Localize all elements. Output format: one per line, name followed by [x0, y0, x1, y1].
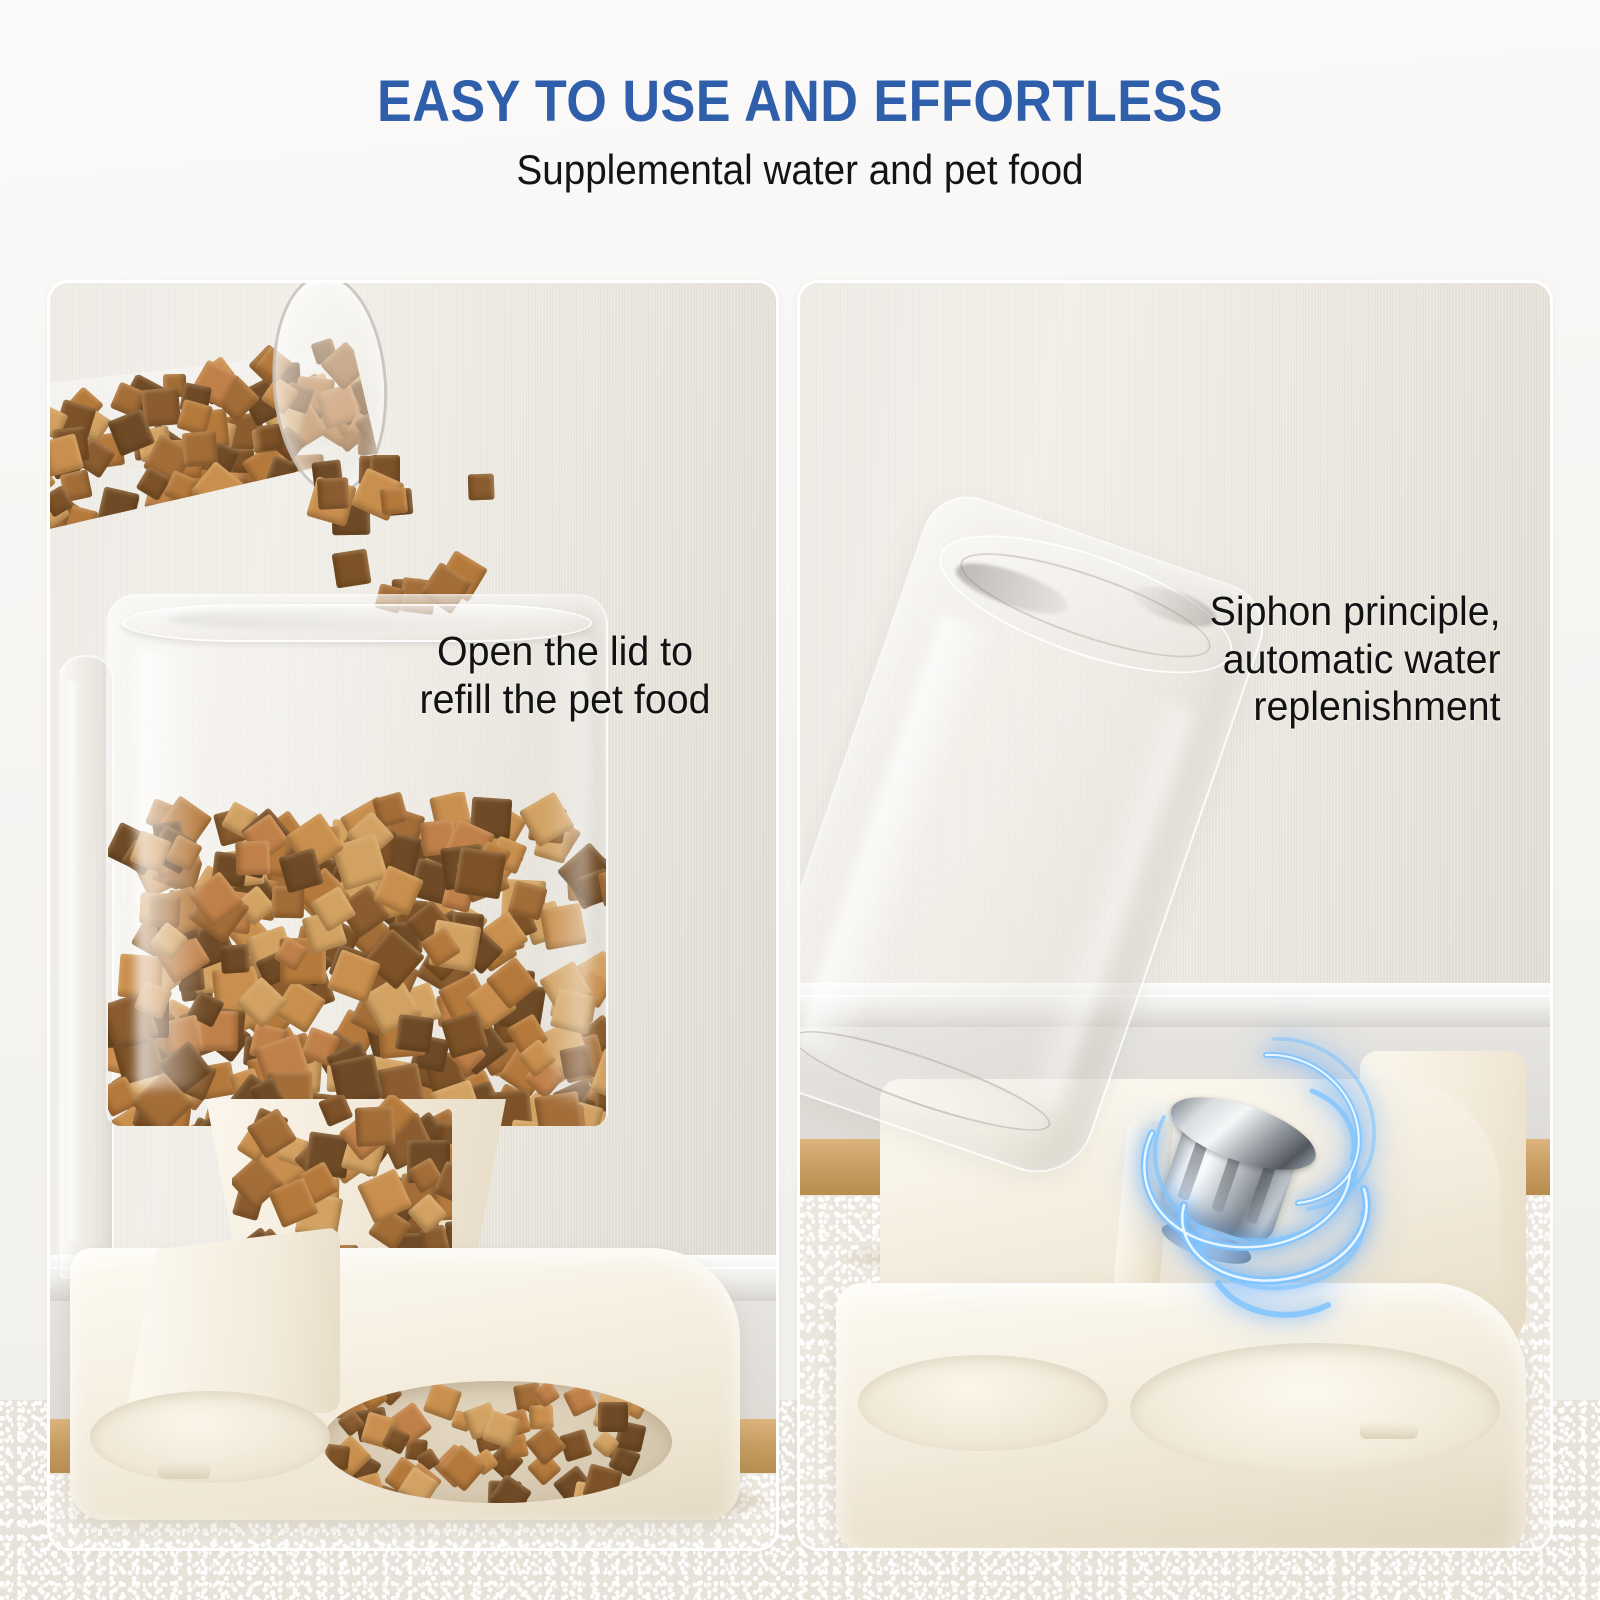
kibble-piece: [395, 1014, 434, 1053]
water-bowl: [1130, 1343, 1500, 1475]
base-clip: [158, 1461, 210, 1479]
caption-line-1: Siphon principle,: [1210, 588, 1501, 634]
kibble-piece: [525, 1424, 567, 1466]
hopper-highlight-left: [136, 648, 206, 1088]
kibble-piece: [318, 1095, 354, 1128]
kibble-piece: [488, 1474, 533, 1503]
kibble-piece: [181, 431, 217, 467]
kibble-piece: [323, 1444, 350, 1471]
header: EASY TO USE AND EFFORTLESS Supplemental …: [0, 0, 1600, 193]
base-divider: [126, 1227, 340, 1413]
kibble-piece: [317, 477, 349, 509]
kibble-piece: [598, 1402, 628, 1432]
caption-line-2: automatic water: [1223, 636, 1501, 682]
kibble-piece: [562, 1383, 597, 1418]
panel-row: Open the lid to refill the pet food: [50, 283, 1550, 1548]
caption-line-1: Open the lid to: [437, 628, 693, 674]
food-bowl: [322, 1381, 672, 1503]
food-panel: Open the lid to refill the pet food: [50, 283, 776, 1548]
water-bowl-left: [90, 1391, 330, 1483]
caption-line-2: refill the pet food: [419, 676, 710, 722]
water-panel: Siphon principle, automatic water replen…: [800, 283, 1550, 1548]
falling-kibble: [300, 453, 480, 603]
kibble-piece: [236, 840, 271, 875]
kibble-piece: [454, 847, 506, 899]
infographic-page: EASY TO USE AND EFFORTLESS Supplemental …: [0, 0, 1600, 1600]
secondary-bowl: [858, 1355, 1108, 1451]
bowl-kibble: [322, 1381, 672, 1503]
kibble-piece: [141, 387, 181, 427]
kibble-piece: [468, 473, 495, 500]
kibble-piece: [380, 486, 408, 514]
page-title: EASY TO USE AND EFFORTLESS: [80, 0, 1520, 133]
caption-line-3: replenishment: [1253, 683, 1500, 729]
water-scene: [800, 283, 1550, 1548]
kibble-piece: [355, 1106, 396, 1147]
kibble-piece: [220, 944, 250, 974]
kibble-piece: [331, 548, 371, 588]
page-subtitle: Supplemental water and pet food: [64, 133, 1536, 193]
food-scene: [50, 283, 776, 1548]
kibble-piece: [632, 1484, 660, 1503]
base-clip: [1360, 1423, 1418, 1439]
water-panel-caption: Siphon principle, automatic water replen…: [1049, 588, 1500, 731]
food-panel-caption: Open the lid to refill the pet food: [378, 628, 752, 723]
